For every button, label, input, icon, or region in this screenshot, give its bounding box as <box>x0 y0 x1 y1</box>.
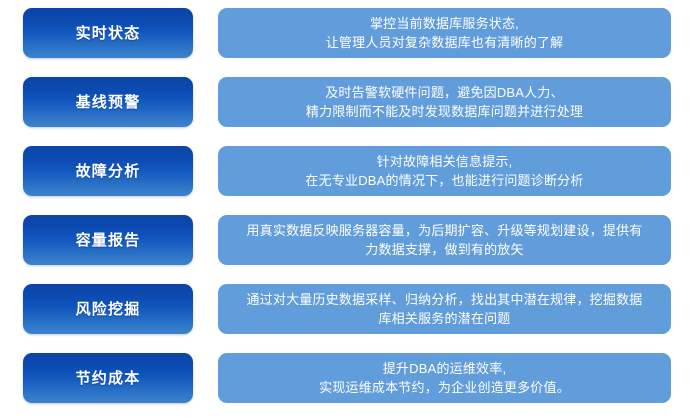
feature-list: 实时状态 掌控当前数据库服务状态, 让管理人员对复杂数据库也有清晰的了解 基线预… <box>0 0 694 420</box>
feature-tag-baseline-alert[interactable]: 基线预警 <box>23 77 193 127</box>
feature-description-text: 掌控当前数据库服务状态, 让管理人员对复杂数据库也有清晰的了解 <box>232 14 657 52</box>
feature-description-text: 通过对大量历史数据采样、归纳分析，找出其中潜在规律，挖掘数据 库相关服务的潜在问… <box>232 290 657 328</box>
feature-description-panel-baseline-alert: 及时告警软硬件问题，避免因DBA人力、 精力限制而不能及时发现数据库问题并进行处… <box>218 77 671 127</box>
feature-tag-label: 实时状态 <box>76 26 141 41</box>
feature-tag-label: 容量报告 <box>76 233 141 248</box>
feature-description-panel-risk-mining: 通过对大量历史数据采样、归纳分析，找出其中潜在规律，挖掘数据 库相关服务的潜在问… <box>218 284 671 334</box>
feature-row: 基线预警 及时告警软硬件问题，避免因DBA人力、 精力限制而不能及时发现数据库问… <box>23 77 671 127</box>
feature-description-text: 用真实数据反映服务器容量，为后期扩容、升级等规划建设，提供有 力数据支撑，做到有… <box>232 221 657 259</box>
feature-tag-risk-mining[interactable]: 风险挖掘 <box>23 284 193 334</box>
feature-description-panel-fault-analysis: 针对故障相关信息提示, 在无专业DBA的情况下，也能进行问题诊断分析 <box>218 146 671 196</box>
feature-row: 容量报告 用真实数据反映服务器容量，为后期扩容、升级等规划建设，提供有 力数据支… <box>23 215 671 265</box>
feature-tag-label: 基线预警 <box>76 95 141 110</box>
feature-description-panel-realtime-status: 掌控当前数据库服务状态, 让管理人员对复杂数据库也有清晰的了解 <box>218 8 671 58</box>
feature-tag-label: 节约成本 <box>76 371 141 386</box>
feature-tag-cost-saving[interactable]: 节约成本 <box>23 353 193 403</box>
feature-tag-fault-analysis[interactable]: 故障分析 <box>23 146 193 196</box>
feature-description-panel-cost-saving: 提升DBA的运维效率, 实现运维成本节约，为企业创造更多价值。 <box>218 353 671 403</box>
feature-row: 实时状态 掌控当前数据库服务状态, 让管理人员对复杂数据库也有清晰的了解 <box>23 8 671 58</box>
feature-tag-realtime-status[interactable]: 实时状态 <box>23 8 193 58</box>
feature-row: 故障分析 针对故障相关信息提示, 在无专业DBA的情况下，也能进行问题诊断分析 <box>23 146 671 196</box>
feature-description-text: 提升DBA的运维效率, 实现运维成本节约，为企业创造更多价值。 <box>232 359 657 397</box>
feature-description-text: 及时告警软硬件问题，避免因DBA人力、 精力限制而不能及时发现数据库问题并进行处… <box>232 83 657 121</box>
feature-tag-capacity-report[interactable]: 容量报告 <box>23 215 193 265</box>
feature-row: 风险挖掘 通过对大量历史数据采样、归纳分析，找出其中潜在规律，挖掘数据 库相关服… <box>23 284 671 334</box>
feature-description-text: 针对故障相关信息提示, 在无专业DBA的情况下，也能进行问题诊断分析 <box>232 152 657 190</box>
feature-tag-label: 故障分析 <box>76 164 141 179</box>
feature-tag-label: 风险挖掘 <box>76 302 141 317</box>
feature-description-panel-capacity-report: 用真实数据反映服务器容量，为后期扩容、升级等规划建设，提供有 力数据支撑，做到有… <box>218 215 671 265</box>
feature-row: 节约成本 提升DBA的运维效率, 实现运维成本节约，为企业创造更多价值。 <box>23 353 671 403</box>
